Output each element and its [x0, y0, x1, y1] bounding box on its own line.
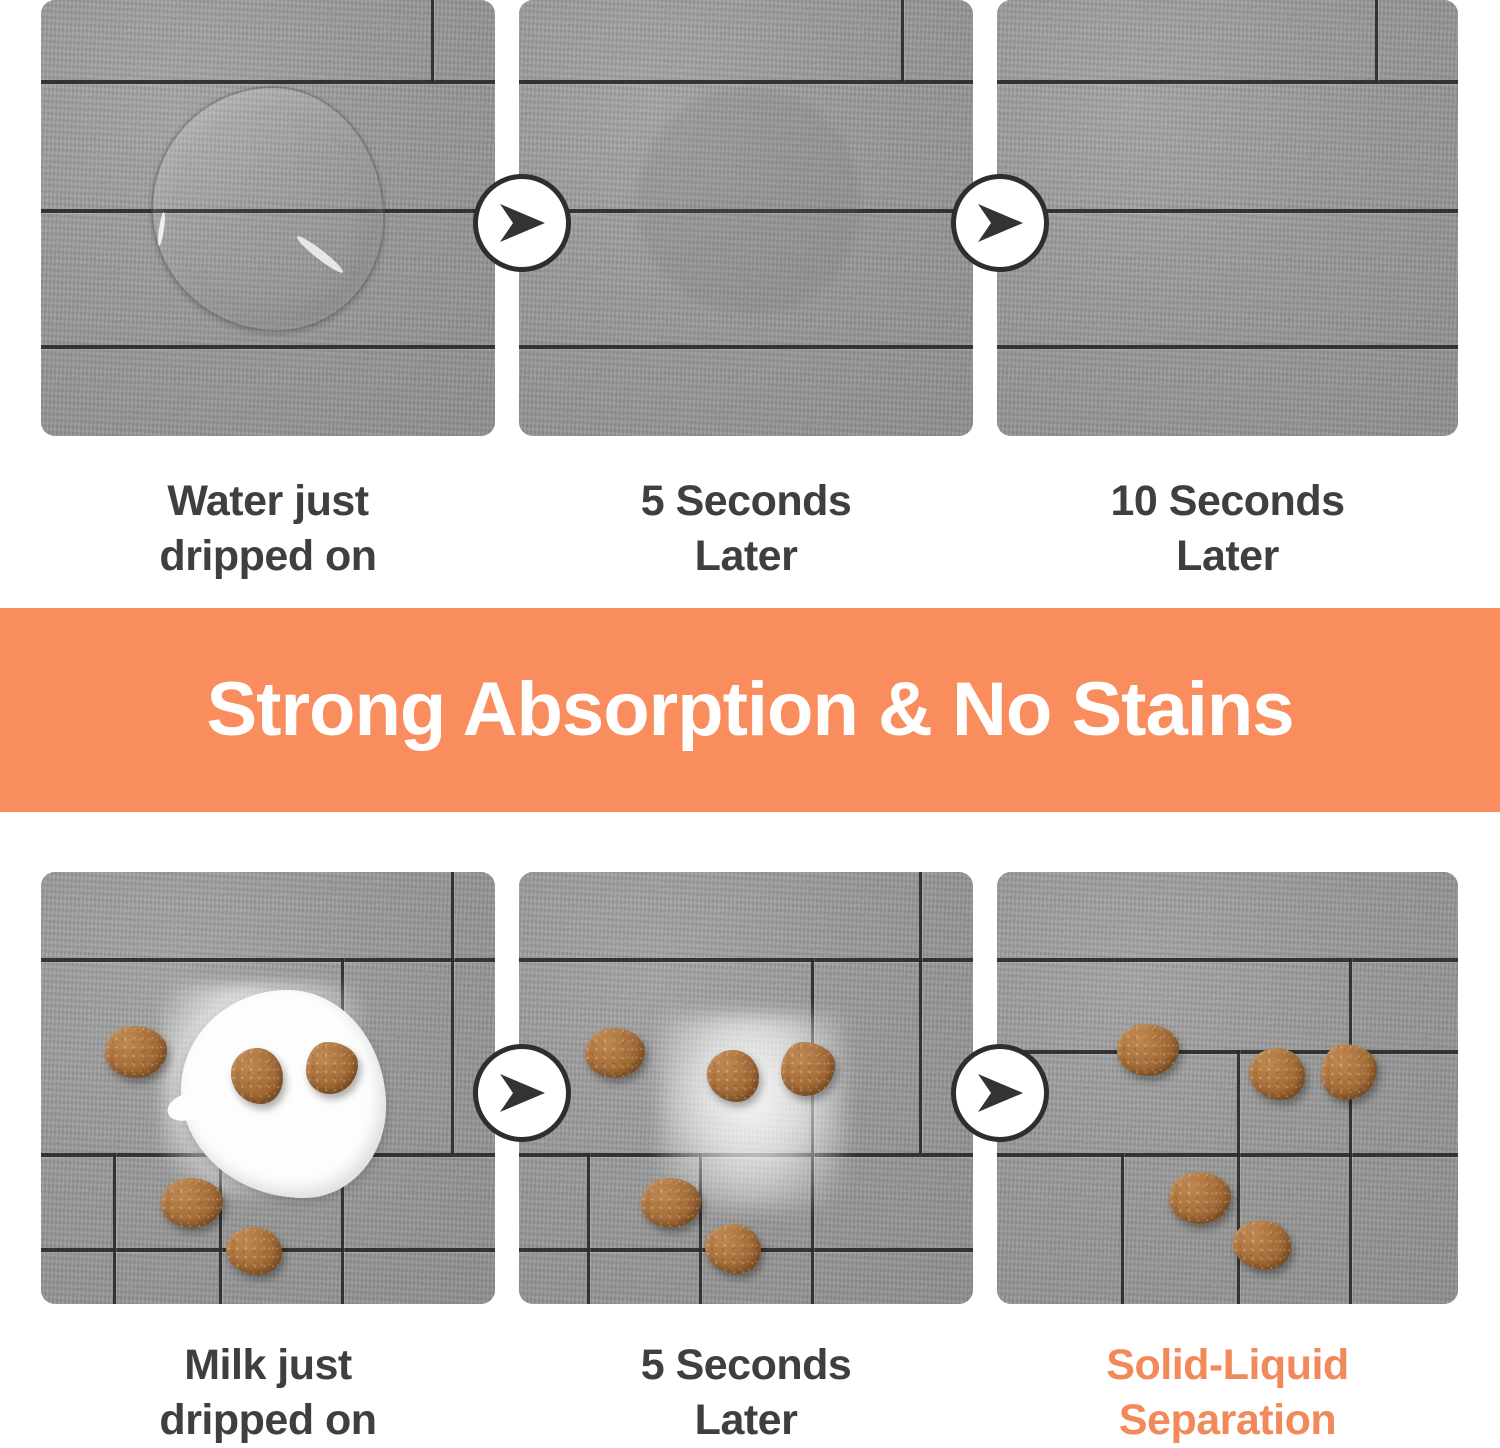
- caption-line-1: Solid-Liquid: [997, 1338, 1458, 1393]
- grout-line-horizontal: [519, 80, 973, 84]
- arrow-right-icon: [951, 174, 1049, 272]
- caption-line-2: Later: [519, 529, 973, 584]
- stone-texture: [997, 872, 1458, 1304]
- milk-step-3-photo: [997, 872, 1458, 1304]
- milk-absorption-row: [0, 872, 1500, 1304]
- grout-line-vertical: [451, 958, 454, 1154]
- grout-line-horizontal: [997, 345, 1458, 349]
- water-step-1-photo: [41, 0, 495, 436]
- arrow-right-icon: [951, 1044, 1049, 1142]
- grout-line-vertical: [1121, 1153, 1124, 1304]
- caption-line-2: Later: [519, 1393, 973, 1448]
- caption-line-1: Water just: [41, 474, 495, 529]
- caption-line-2: dripped on: [41, 1393, 495, 1448]
- grout-line-vertical: [1375, 0, 1378, 82]
- water-step-2-photo: [519, 0, 973, 436]
- headline-banner: Strong Absorption & No Stains: [0, 608, 1500, 812]
- grout-line-vertical: [113, 1153, 116, 1304]
- milk-step-1-caption: Milk just dripped on: [41, 1338, 495, 1448]
- grout-line-horizontal: [41, 958, 495, 962]
- water-step-2-caption: 5 Seconds Later: [519, 474, 973, 584]
- caption-line-1: 5 Seconds: [519, 474, 973, 529]
- grout-line-horizontal: [997, 209, 1458, 213]
- grout-line-vertical: [587, 1153, 590, 1304]
- grout-line-horizontal: [41, 345, 495, 349]
- stone-texture: [997, 0, 1458, 436]
- water-step-1-caption: Water just dripped on: [41, 474, 495, 584]
- damp-patch: [637, 88, 859, 314]
- grout-line-horizontal: [997, 80, 1458, 84]
- grout-line-horizontal: [997, 958, 1458, 962]
- caption-line-1: 10 Seconds: [997, 474, 1458, 529]
- milk-step-2-caption: 5 Seconds Later: [519, 1338, 973, 1448]
- water-step-3-photo: [997, 0, 1458, 436]
- milk-step-3-caption: Solid-Liquid Separation: [997, 1338, 1458, 1448]
- grout-line-vertical: [919, 958, 922, 1154]
- grout-line-horizontal: [41, 80, 495, 84]
- arrow-right-icon: [473, 1044, 571, 1142]
- grout-line-horizontal: [519, 345, 973, 349]
- grout-line-vertical: [1237, 1050, 1240, 1153]
- grout-line-horizontal: [997, 1153, 1458, 1157]
- caption-line-2: Separation: [997, 1393, 1458, 1448]
- water-step-3-caption: 10 Seconds Later: [997, 474, 1458, 584]
- caption-line-1: Milk just: [41, 1338, 495, 1393]
- grout-line-vertical: [901, 0, 904, 82]
- grout-line-vertical: [431, 0, 434, 82]
- infographic-stage: Water just dripped on 5 Seconds Later 10…: [0, 0, 1500, 1448]
- milk-step-1-photo: [41, 872, 495, 1304]
- headline-text: Strong Absorption & No Stains: [206, 672, 1293, 748]
- grout-line-horizontal: [519, 958, 973, 962]
- arrow-right-icon: [473, 174, 571, 272]
- grout-line-vertical: [451, 872, 454, 960]
- caption-line-2: Later: [997, 529, 1458, 584]
- caption-line-2: dripped on: [41, 529, 495, 584]
- caption-line-1: 5 Seconds: [519, 1338, 973, 1393]
- grout-line-horizontal: [997, 1050, 1458, 1054]
- water-absorption-row: [0, 0, 1500, 436]
- grout-line-vertical: [1349, 958, 1352, 1050]
- milk-step-2-photo: [519, 872, 973, 1304]
- grout-line-vertical: [919, 872, 922, 960]
